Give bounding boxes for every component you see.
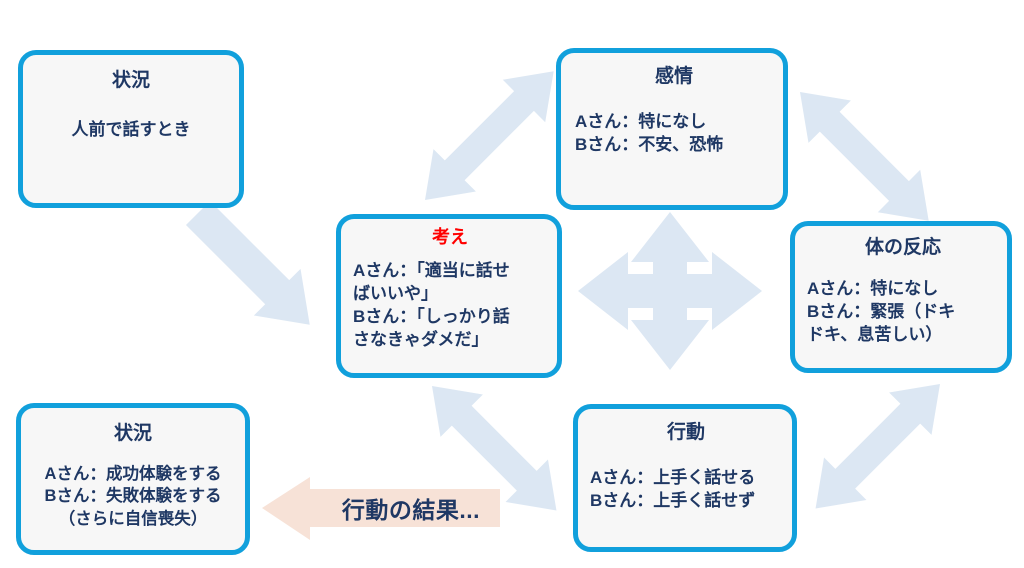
node-body: Aさん：「適当に話せ ばいいや」 Bさん：「しっかり話 さなきゃダメだ」 <box>353 259 547 351</box>
node-title: 状況 <box>33 71 229 92</box>
node-situation-bottom[interactable]: 状況 Aさん：成功体験をする Bさん：失敗体験をする （さらに自信喪失） <box>16 403 250 555</box>
arrow-situation-to-thought <box>175 190 333 348</box>
arrow-emotion-bodyreaction <box>779 71 950 242</box>
diagram-canvas: 状況 人前で話すとき 感情 Aさん：特になし Bさん：不安、恐怖 考え Aさん：… <box>0 0 1024 568</box>
node-behavior[interactable]: 行動 Aさん：上手く話せる Bさん：上手く話せず <box>573 404 797 552</box>
node-body: 人前で話すとき <box>33 118 229 141</box>
node-title: 状況 <box>27 424 239 445</box>
node-body: Aさん：上手く話せる Bさん：上手く話せず <box>590 466 782 512</box>
arrow-thought-emotion <box>404 50 575 221</box>
node-situation-top[interactable]: 状況 人前で話すとき <box>18 50 244 208</box>
node-title: 感情 <box>575 67 773 88</box>
node-body: Aさん：成功体験をする Bさん：失敗体験をする （さらに自信喪失） <box>27 463 239 530</box>
node-title: 体の反応 <box>807 238 999 259</box>
four-way-arrow-cluster <box>578 212 762 370</box>
node-emotion[interactable]: 感情 Aさん：特になし Bさん：不安、恐怖 <box>556 48 788 210</box>
node-thought[interactable]: 考え Aさん：「適当に話せ ばいいや」 Bさん：「しっかり話 さなきゃダメだ」 <box>336 214 562 378</box>
node-body-reaction[interactable]: 体の反応 Aさん：特になし Bさん：緊張（ドキ ドキ、息苦しい） <box>790 221 1012 373</box>
node-title: 考え <box>353 228 547 248</box>
node-title: 行動 <box>590 423 782 444</box>
node-body: Aさん：特になし Bさん：緊張（ドキ ドキ、息苦しい） <box>807 277 999 346</box>
arrow-bodyreaction-behavior <box>794 363 961 530</box>
result-arrow-label: 行動の結果... <box>316 489 506 527</box>
node-body: Aさん：特になし Bさん：不安、恐怖 <box>575 110 773 156</box>
